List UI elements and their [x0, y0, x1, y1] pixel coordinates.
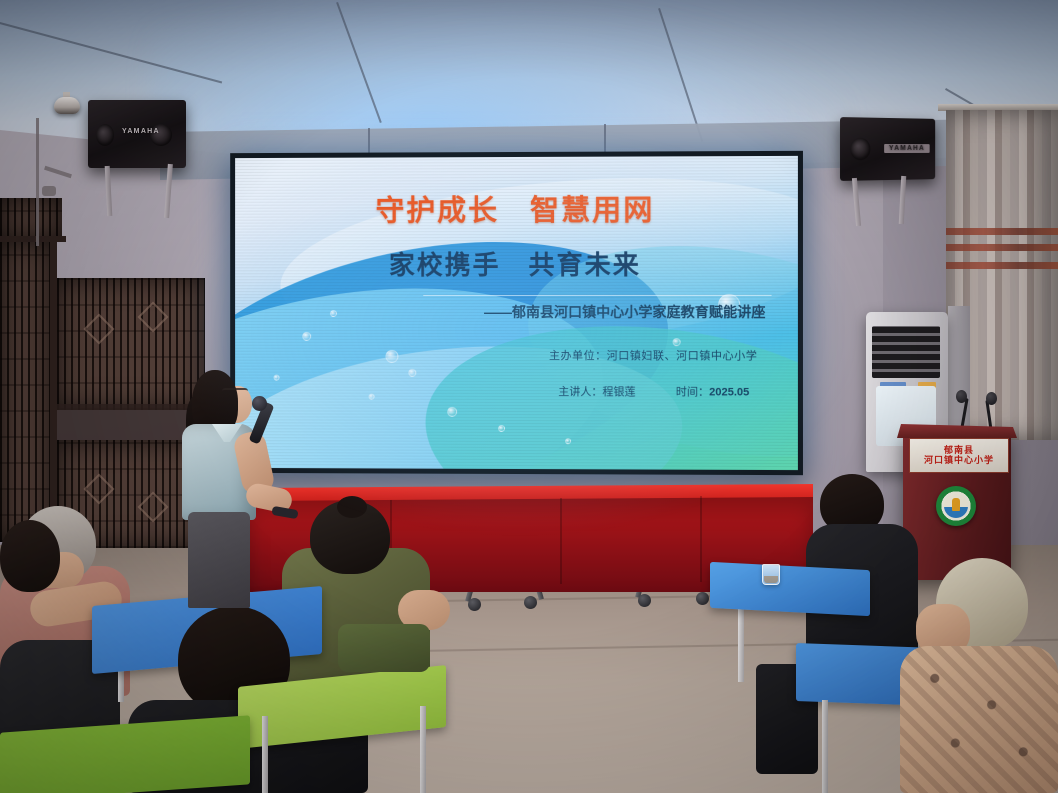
gooseneck-mic-head	[956, 390, 967, 403]
lecture-room-photo: YAMAHA YAMAHA	[0, 0, 1058, 793]
gooseneck-mic-head	[986, 392, 997, 405]
skirt-fold	[700, 496, 702, 582]
speaker-brand-label: YAMAHA	[884, 144, 929, 153]
speaker-brand-label: YAMAHA	[122, 128, 160, 135]
microphone-head	[252, 396, 267, 411]
ac-louvers	[872, 326, 940, 378]
slide-meta: 主讲人：程银莲 时间：2025.05	[261, 383, 772, 400]
table-caster	[468, 598, 481, 611]
table-caster	[524, 596, 537, 609]
slide-title-main: 守护成长 智慧用网	[376, 187, 655, 230]
speaker-cone	[850, 138, 870, 161]
screen-surface: 守护成长 智慧用网 家校携手 共育未来 ——郁南县河口镇中心小学家庭教育赋能讲座…	[235, 156, 798, 470]
slide-content: 守护成长 智慧用网 家校携手 共育未来 ——郁南县河口镇中心小学家庭教育赋能讲座…	[235, 156, 798, 470]
audience-head	[0, 520, 60, 592]
desk-leg	[262, 716, 268, 793]
skirt-fold	[560, 498, 562, 584]
student-desk	[710, 562, 870, 616]
slide-date-label: 时间：	[676, 386, 709, 398]
slide-date: 时间：2025.05	[676, 383, 749, 399]
wall-conduit	[36, 118, 39, 246]
slide-date-value: 2025.05	[709, 386, 749, 398]
emblem-inner	[944, 494, 968, 518]
presenter-glasses-icon	[222, 388, 248, 396]
wall-hook	[42, 186, 56, 196]
slide-subtitle: ——郁南县河口镇中心小学家庭教育赋能讲座	[261, 302, 772, 322]
slide-speaker: 主讲人：程银莲	[558, 383, 635, 399]
dome-camera-icon	[54, 97, 80, 114]
curtain-stripe	[946, 244, 1058, 251]
school-emblem-icon	[936, 486, 976, 526]
water-cup	[762, 564, 780, 585]
desk-leg	[822, 700, 828, 793]
audience-hair-bun	[337, 496, 367, 518]
wall-lattice-center	[57, 278, 205, 410]
desk-leg	[738, 608, 744, 682]
presenter-legs	[188, 512, 250, 608]
led-presentation-screen: 守护成长 智慧用网 家校携手 共育未来 ——郁南县河口镇中心小学家庭教育赋能讲座…	[230, 151, 803, 475]
podium-sign-line2: 河口镇中心小学	[924, 456, 994, 465]
desk-leg	[420, 706, 426, 793]
speaker-cone	[96, 124, 114, 146]
chair-back	[338, 624, 430, 672]
slide-organizer: 主办单位：河口镇妇联、河口镇中心小学	[261, 347, 772, 364]
wall-lattice-upper	[0, 198, 62, 238]
table-caster	[638, 594, 651, 607]
curtain-stripe	[946, 262, 1058, 269]
slide-title-sub: 家校携手 共育未来	[389, 245, 641, 282]
speaker-left: YAMAHA	[88, 100, 186, 168]
lattice-post	[50, 240, 57, 545]
audience-member	[900, 646, 1058, 793]
podium-sign-line1: 郁南县	[944, 446, 974, 455]
table-caster	[696, 592, 709, 605]
curtain-stripe	[946, 228, 1058, 235]
podium-sign: 郁南县 河口镇中心小学	[909, 438, 1009, 473]
wall-lattice-left	[0, 242, 52, 542]
speaker-right: YAMAHA	[840, 117, 935, 181]
emblem-figure	[952, 498, 960, 511]
slide-divider	[423, 295, 772, 296]
